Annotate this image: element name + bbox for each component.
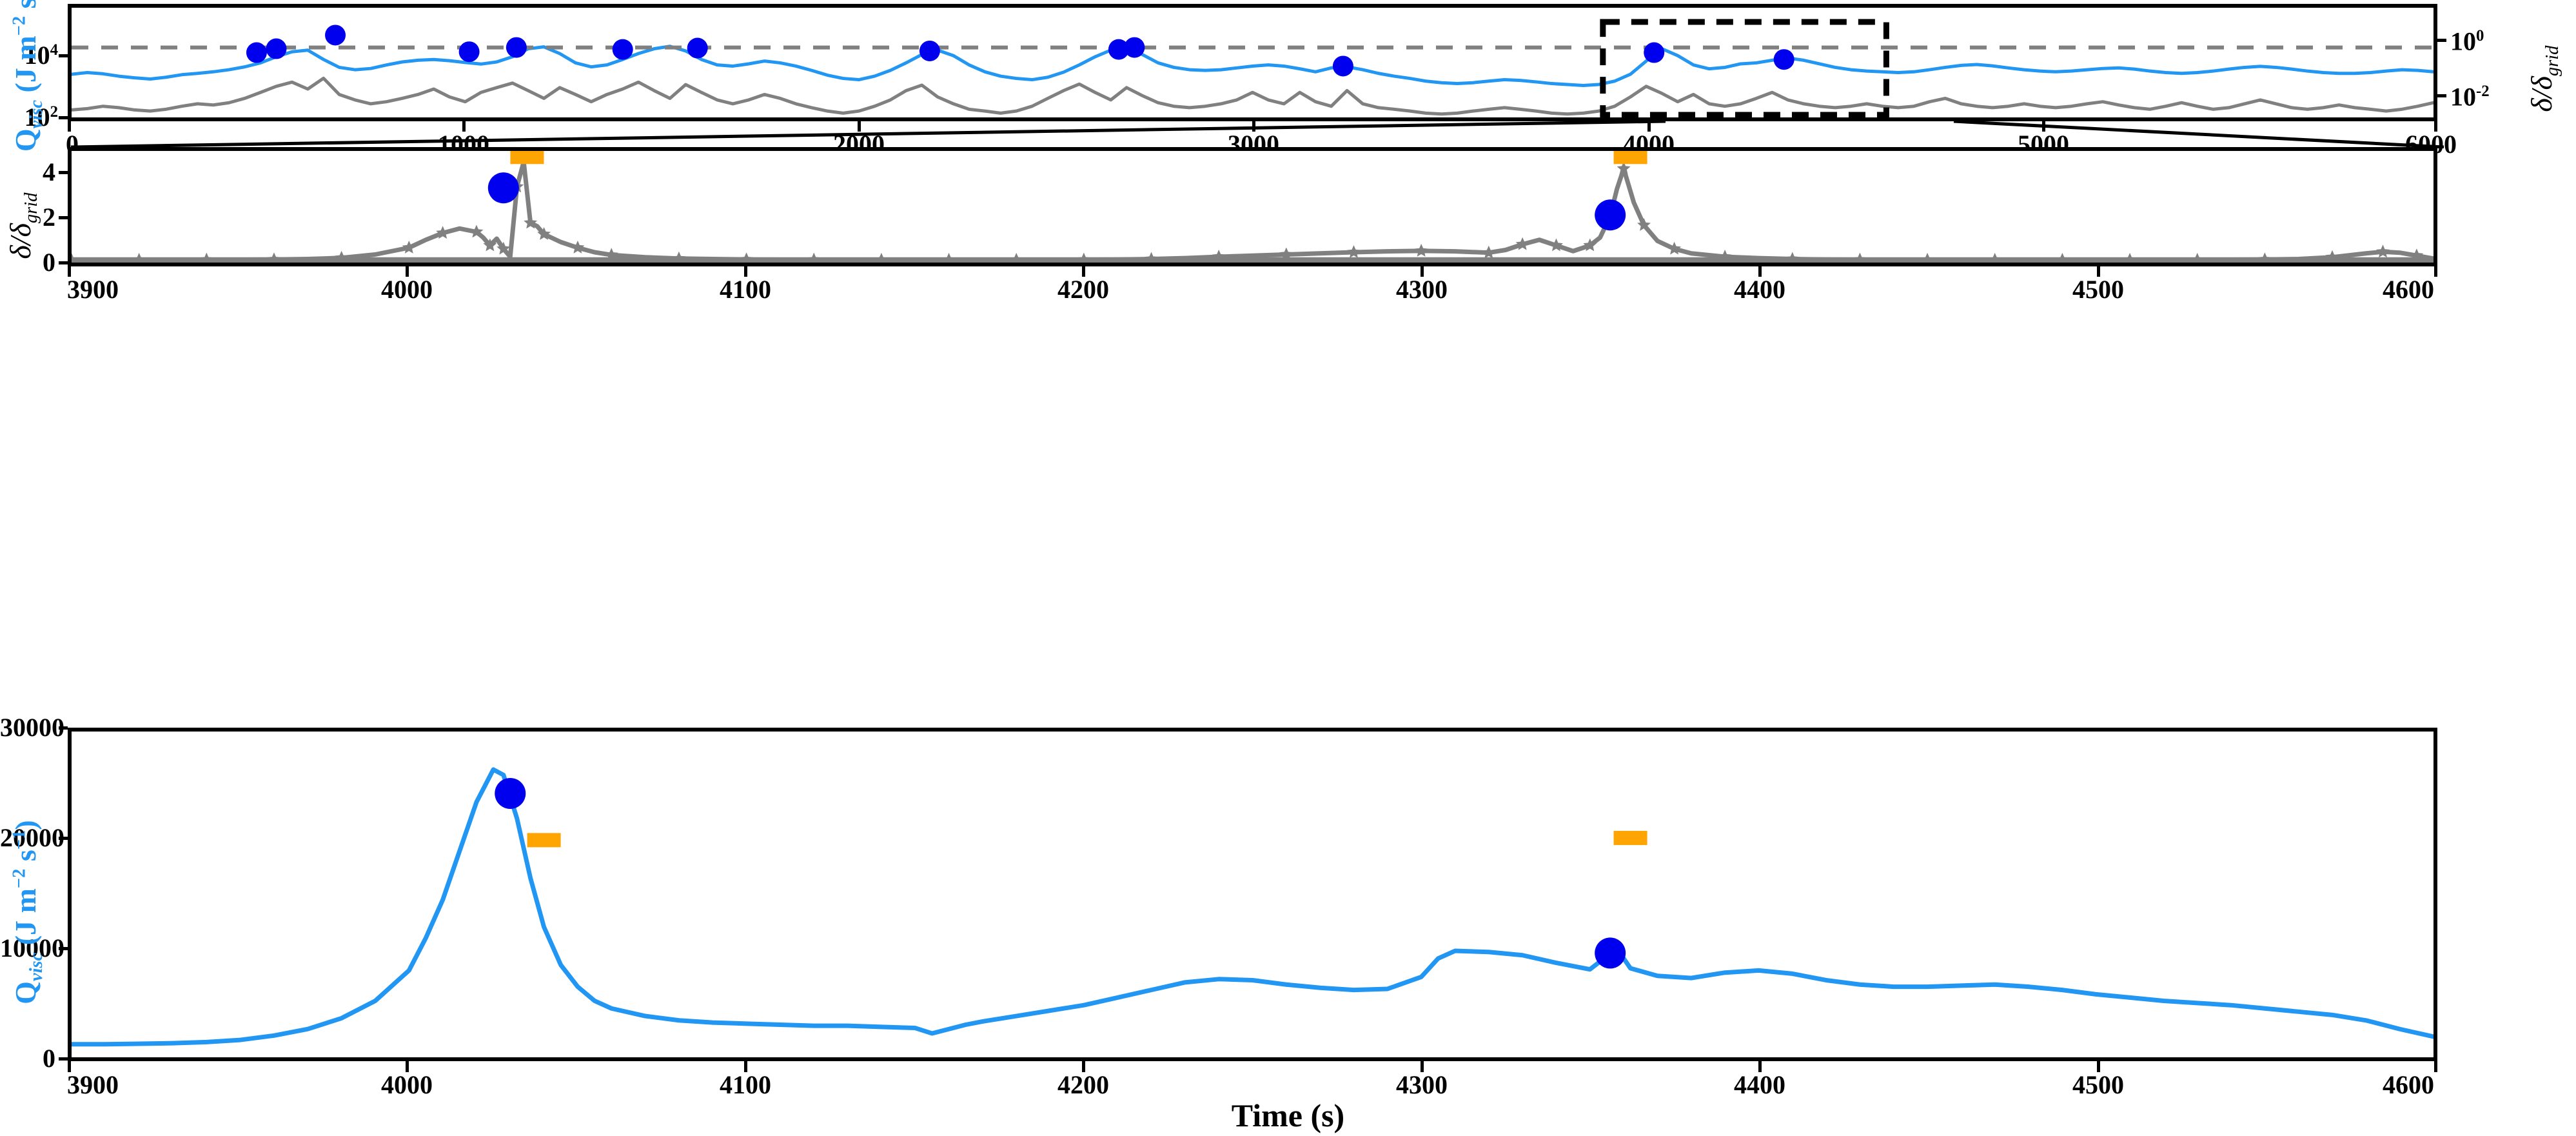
zoom-qvisc-panel	[68, 728, 2437, 1061]
overview-right-ytick-1e0: 100	[2450, 28, 2484, 54]
overview-panel	[68, 4, 2437, 121]
zoom-delta-ytick-mark-0	[59, 261, 68, 264]
zoom-q-ytick-mark-0	[59, 1057, 68, 1061]
zoom-delta-xlabel-4500: 4500	[2072, 277, 2124, 303]
zoom-delta-plot-area	[72, 151, 2433, 263]
zoom-q-axis-title: Qvisc (J m−2 s−1)	[8, 819, 47, 1006]
zoom-delta-xlabel-4100: 4100	[720, 277, 771, 303]
zoom-q-xlabel-4300: 4300	[1396, 1072, 1448, 1098]
zoom-connector	[0, 120, 2576, 148]
zoom-delta-ytick-mark-2	[59, 216, 68, 219]
zoom-qvisc-plot-area	[72, 732, 2433, 1057]
zoom-q-xlabel-4500: 4500	[2072, 1072, 2124, 1098]
zoom-q-ytick-30000: 30000	[0, 715, 55, 741]
overview-ytick-mark-1e4	[59, 54, 68, 57]
zoom-q-xlabel-4100: 4100	[720, 1072, 771, 1098]
zoom-q-xlabel-4000: 4000	[381, 1072, 433, 1098]
zoom-delta-xlabel-3900: 3900	[67, 277, 119, 303]
zoom-q-xlabel-4600: 4600	[2383, 1072, 2434, 1098]
zoom-delta-xlabel-4600: 4600	[2383, 277, 2434, 303]
overview-plot-area	[72, 8, 2433, 117]
overview-right-ytick-mark-1	[2437, 39, 2446, 42]
overview-right-ytick-mark-2	[2437, 94, 2446, 97]
zoom-q-xlabel-3900: 3900	[67, 1072, 119, 1098]
zoom-delta-xlabel-4400: 4400	[1734, 277, 1785, 303]
zoom-q-xtick-4600	[2434, 1061, 2437, 1072]
zoom-q-ytick-0: 0	[0, 1046, 55, 1071]
zoom-q-xlabel-4200: 4200	[1057, 1072, 1109, 1098]
zoom-delta-xlabel-4300: 4300	[1396, 277, 1448, 303]
figure-root: 104 102 100 10-2 0 1000 2000 3000 4000 5…	[0, 0, 2576, 1136]
zoom-q-xlabel-4400: 4400	[1734, 1072, 1785, 1098]
zoom-delta-ytick-mark-4	[59, 171, 68, 174]
zoom-delta-xtick-4600	[2434, 266, 2437, 277]
figure-xaxis-title: Time (s)	[0, 1097, 2576, 1134]
zoom-delta-xlabel-4200: 4200	[1057, 277, 1109, 303]
zoom-delta-xlabel-4000: 4000	[381, 277, 433, 303]
overview-ytick-mark-1e2	[59, 116, 68, 119]
overview-right-ytick-1em2: 10-2	[2450, 84, 2490, 110]
zoom-delta-panel	[68, 147, 2437, 266]
zoom-delta-axis-title: δ/δgrid	[3, 148, 42, 303]
